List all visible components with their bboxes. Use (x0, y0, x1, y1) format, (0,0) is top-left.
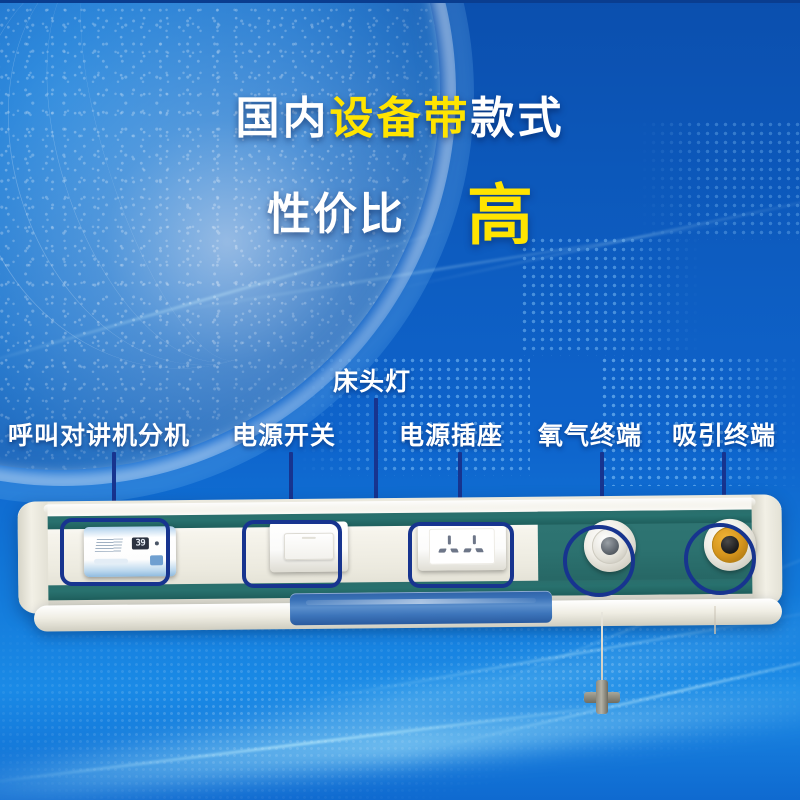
subheadline-highlight: 高 (467, 178, 533, 252)
callout-label-oxygen: 氧气终端 (538, 416, 642, 452)
callout-box-intercom (60, 518, 170, 586)
suction-hose-stub (714, 606, 716, 634)
panel-acrylic-cover (290, 591, 552, 626)
callout-label-bed-lamp: 床头灯 (333, 362, 411, 398)
callout-box-power-outlet (408, 522, 514, 588)
product-promo-image: 国内设备带款式 性价比高 呼叫对讲机分机 电源开关 床头灯 电源插座 氧气终端 … (0, 0, 800, 800)
top-border-bar (0, 0, 800, 3)
headline-highlight: 设备带 (330, 94, 471, 143)
headline: 国内设备带款式 (0, 82, 800, 146)
subheadline: 性价比高 (0, 162, 800, 258)
callout-label-intercom: 呼叫对讲机分机 (8, 416, 190, 452)
headline-part1: 国内 (236, 94, 330, 143)
panel-end-cap-right (751, 494, 782, 606)
callout-box-oxygen (563, 525, 635, 597)
callout-label-power-switch: 电源开关 (232, 416, 336, 452)
callout-label-power-outlet: 电源插座 (399, 416, 503, 452)
callout-box-power-switch (242, 520, 342, 588)
pull-cord-cross-fixture[interactable] (584, 680, 620, 714)
panel-end-cap-left (17, 501, 48, 613)
headline-part2: 款式 (471, 94, 565, 143)
callout-label-suction: 吸引终端 (672, 416, 776, 452)
bed-lamp-pull-cord[interactable] (601, 612, 603, 686)
subheadline-text: 性价比 (267, 190, 405, 239)
callout-box-suction (684, 523, 756, 595)
